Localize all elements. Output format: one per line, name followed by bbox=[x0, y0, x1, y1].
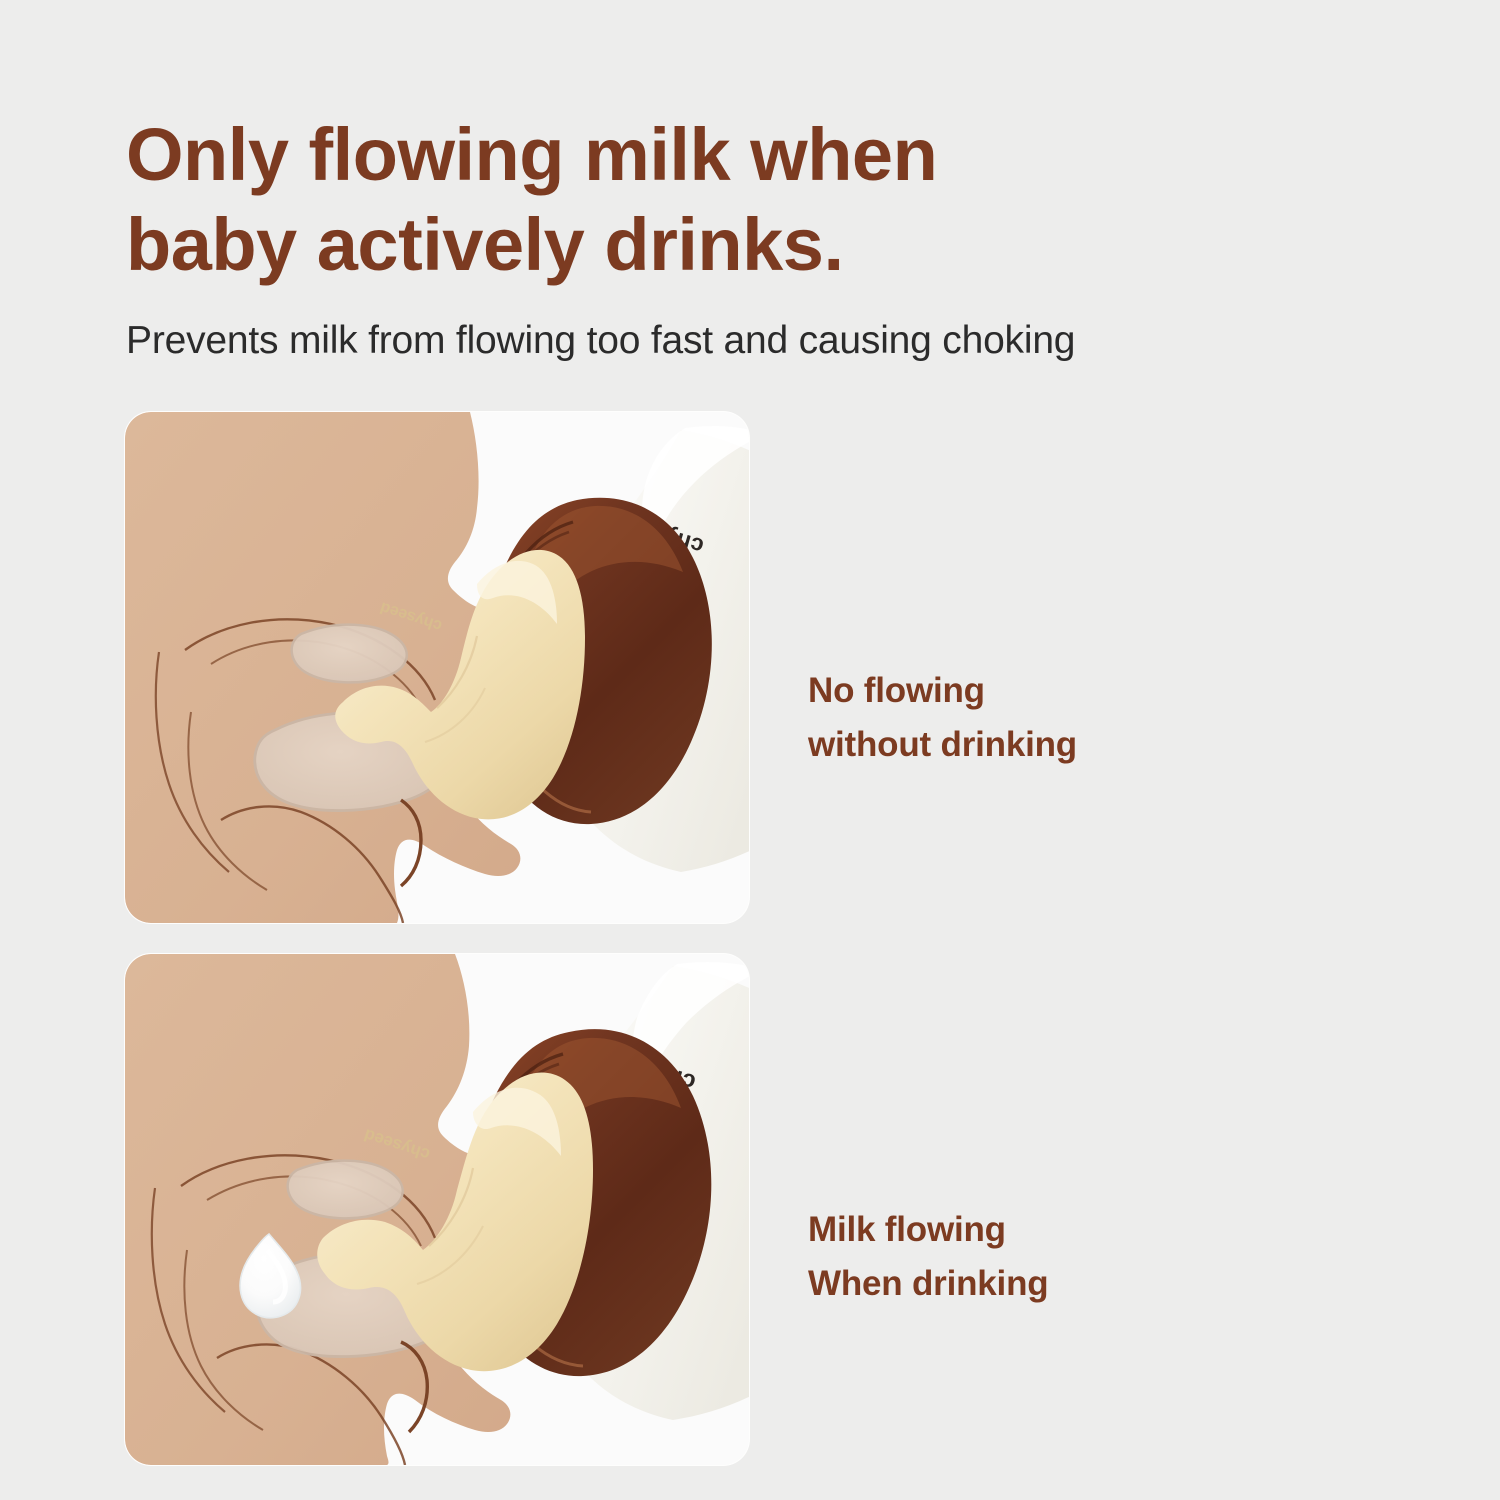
illustration-panel-milk-flowing: chyseed chyseed bbox=[125, 954, 749, 1465]
upper-palate-pad bbox=[288, 1161, 403, 1219]
baby-head-cross-section-icon: chyseed chyseed bbox=[125, 954, 749, 1465]
panel-caption-milk-flowing: Milk flowing When drinking bbox=[808, 1203, 1048, 1312]
page-title: Only flowing milk when baby actively dri… bbox=[126, 110, 1406, 291]
page-subtitle: Prevents milk from flowing too fast and … bbox=[126, 291, 1406, 366]
panel-caption-no-flow: No flowing without drinking bbox=[808, 664, 1077, 773]
header-block: Only flowing milk when baby actively dri… bbox=[126, 110, 1406, 365]
upper-palate-pad bbox=[292, 625, 407, 683]
illustration-panel-no-flow: chyseed chyseed bbox=[125, 412, 749, 923]
baby-head-cross-section-icon: chyseed chyseed bbox=[125, 412, 749, 923]
